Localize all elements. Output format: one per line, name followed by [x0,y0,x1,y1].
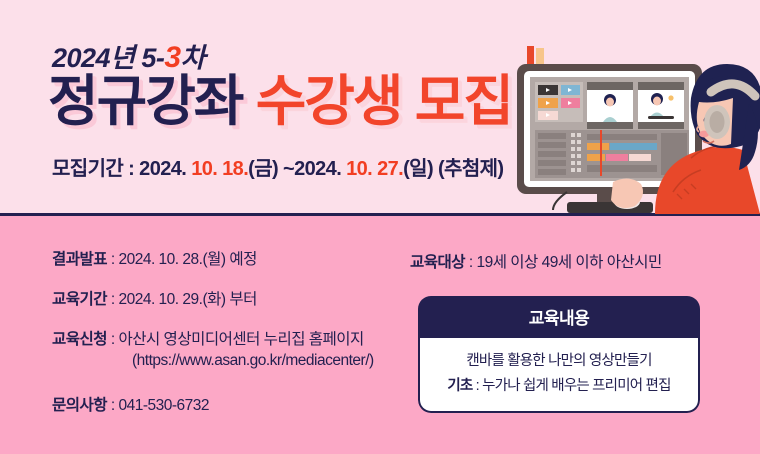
timeline-row-1 [587,134,657,140]
timeline-track-label [538,169,566,175]
preview-1-bottombar [587,122,633,129]
timeline-track-label [538,160,566,166]
clip-orange-1 [587,143,609,150]
info-label-target: 교육대상 [410,254,465,271]
info-row-target: 교육대상 : 19세 이상 49세 이하 아산시민 [410,250,720,272]
info-row-apply: 교육신청 : 아산시 영상미디어센터 누리집 홈페이지 (https://www… [52,330,402,372]
preview-2-avatar-face [653,97,661,106]
kicker-suffix: 차 [181,43,205,73]
timeline-track-label [538,133,566,139]
book-red-icon [527,46,534,66]
course-level-label: 기초 [447,378,472,394]
period-start-date: 10. 18. [191,158,248,180]
period-middle: (금) ~2024. [248,158,346,180]
preview-2-desk [648,116,674,119]
timeline-track-label [538,151,566,157]
info-label-apply: 교육신청 [52,331,107,348]
clip-pink [606,154,628,161]
period-label: 모집기간 : 2024. [52,158,191,180]
timeline-row-4 [587,165,657,172]
card-body: 캔바를 활용한 나만의 영상만들기 기초 : 누가나 쉽게 배우는 프리미어 편… [418,338,700,413]
preview-1-topbar [587,82,633,90]
headphone-earpad [710,111,725,133]
info-column-left: 결과발표 : 2024. 10. 28.(월) 예정 교육기간 : 2024. … [52,250,402,436]
title-part-recruit: 수강생 모집 [256,70,512,132]
course-item-premiere-text: : 누가나 쉽게 배우는 프리미어 편집 [472,378,670,394]
info-value-apply: : 아산시 영상미디어센터 누리집 홈페이지 [107,331,364,348]
clip-blue [610,143,657,150]
info-column-right: 교육대상 : 19세 이상 49세 이하 아산시민 [410,250,720,272]
preview-1-avatar-face [606,98,614,107]
period-end-date: 10. 27. [346,158,403,180]
timeline-track-label [538,142,566,148]
info-value-period: : 2024. 10. 29.(화) 부터 [107,291,257,308]
preview-2-bottombar [638,122,684,129]
book-tan-icon [536,48,544,66]
recruitment-period: 모집기간 : 2024. 10. 18.(금) ~2024. 10. 27.(일… [52,152,504,181]
kicker-prefix: 2024년 5- [52,43,164,73]
info-value-contact: : 041-530-6732 [107,397,209,414]
clip-orange-2 [587,154,605,161]
poster-root: 2024년 5-3차 정규강좌 수강생 모집 모집기간 : 2024. 10. … [0,0,760,454]
apply-website-url[interactable]: (https://www.asan.go.kr/mediacenter/) [52,351,402,372]
card-heading: 교육내용 [418,296,700,338]
course-content-card: 교육내용 캔바를 활용한 나만의 영상만들기 기초 : 누가나 쉽게 배우는 프… [418,296,700,413]
clip-blush [629,154,651,161]
info-row-result: 결과발표 : 2024. 10. 28.(월) 예정 [52,250,402,271]
page-title: 정규강좌 수강생 모집 [48,74,512,129]
info-value-target: : 19세 이상 49세 이하 아산시민 [465,254,662,271]
illustration-person-editing-video [505,42,760,214]
info-row-contact: 문의사항 : 041-530-6732 [52,396,402,417]
course-item-canva: 캔바를 활용한 나만의 영상만들기 [432,349,686,374]
course-item-premiere: 기초 : 누가나 쉽게 배우는 프리미어 편집 [432,374,686,399]
info-label-period: 교육기간 [52,291,107,308]
info-value-result: : 2024. 10. 28.(월) 예정 [107,251,257,268]
info-label-contact: 문의사항 [52,397,107,414]
monitor-base [567,202,653,213]
preview-2-sparkle-icon [668,95,673,100]
info-label-result: 결과발표 [52,251,107,268]
period-tail: (일) (추첨제) [403,158,503,180]
info-row-period: 교육기간 : 2024. 10. 29.(화) 부터 [52,290,402,311]
monitor-cable [553,192,567,210]
playhead-icon [600,130,602,176]
preview-2-topbar [638,82,684,90]
title-part-course: 정규강좌 [48,70,242,132]
